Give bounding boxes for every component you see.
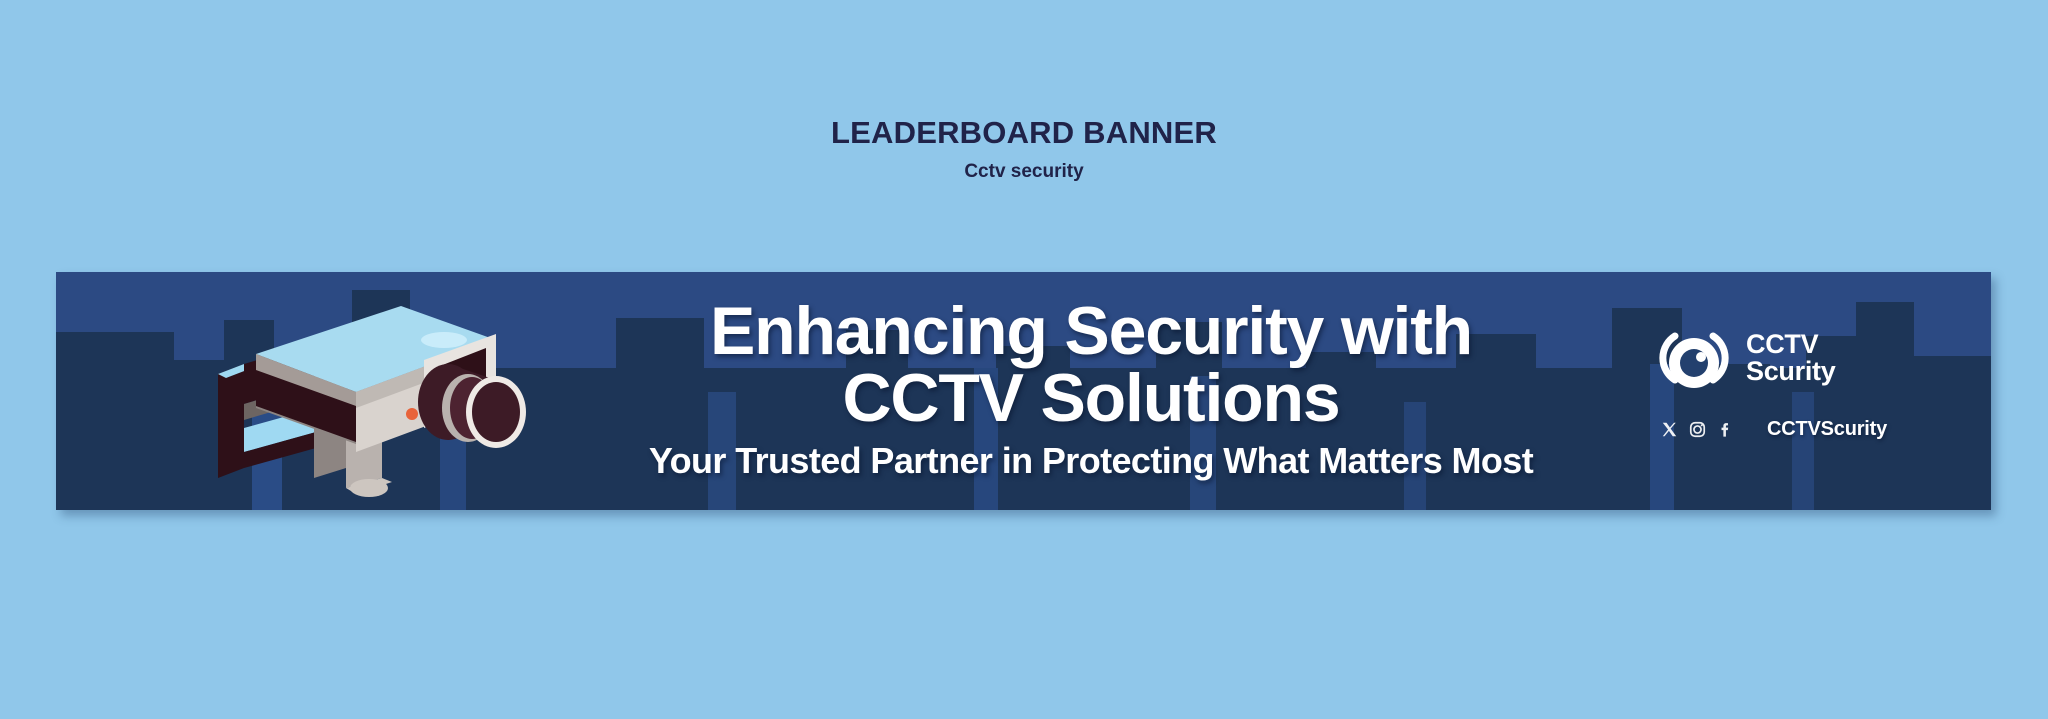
logo-row: CCTV Scurity: [1656, 320, 1956, 396]
instagram-icon[interactable]: [1689, 421, 1706, 438]
headline-line-1: Enhancing Security with: [710, 293, 1472, 369]
banner-headline-block: Enhancing Security with CCTV Solutions Y…: [526, 298, 1656, 482]
brand-logo-block[interactable]: CCTV Scurity CCTVScurity: [1656, 320, 1956, 441]
headline-line-2: CCTV Solutions: [526, 365, 1656, 432]
logo-name-line-1: CCTV: [1746, 331, 1835, 358]
banner-headline: Enhancing Security with CCTV Solutions: [526, 298, 1656, 431]
banner-subheadline: Your Trusted Partner in Protecting What …: [526, 440, 1656, 482]
leaderboard-banner[interactable]: Enhancing Security with CCTV Solutions Y…: [56, 272, 1991, 510]
page-title: LEADERBOARD BANNER: [0, 116, 2048, 150]
page-subtitle: Cctv security: [0, 162, 2048, 183]
cctv-eye-icon: [1656, 320, 1732, 396]
social-links-row: CCTVScurity: [1661, 418, 1956, 441]
logo-name-line-2: Scurity: [1746, 358, 1835, 385]
facebook-icon[interactable]: [1717, 421, 1734, 438]
x-icon[interactable]: [1661, 421, 1678, 438]
social-handle[interactable]: CCTVScurity: [1767, 418, 1887, 441]
page-heading: LEADERBOARD BANNER Cctv security: [0, 116, 2048, 183]
logo-wordmark: CCTV Scurity: [1746, 331, 1835, 385]
cctv-camera-icon: [196, 282, 546, 510]
